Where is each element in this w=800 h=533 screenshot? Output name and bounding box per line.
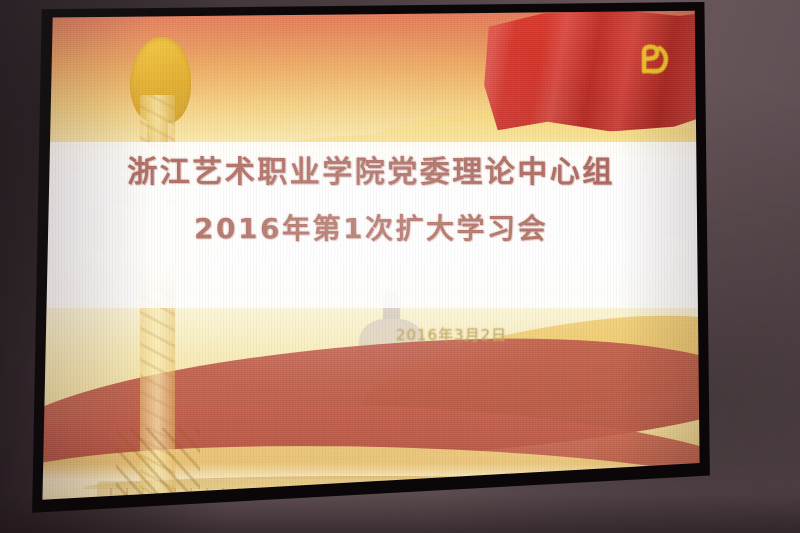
cpc-party-flag [484,10,710,132]
presentation-slide: 浙江艺术职业学院党委理论中心组 2016年第1次扩大学习会 2016年3月2日 [28,2,714,520]
slide-title-block: 浙江艺术职业学院党委理论中心组 2016年第1次扩大学习会 [28,147,714,247]
projector-screen-surface: 浙江艺术职业学院党委理论中心组 2016年第1次扩大学习会 2016年3月2日 [28,2,714,520]
slide-title-line-1: 浙江艺术职业学院党委理论中心组 [28,147,714,191]
room-scene: 浙江艺术职业学院党委理论中心组 2016年第1次扩大学习会 2016年3月2日 [0,0,800,533]
slide-date: 2016年3月2日 [396,324,507,345]
slide-title-line-2: 2016年第1次扩大学习会 [28,207,714,247]
slide-date-block: 2016年3月2日 [28,324,714,345]
hammer-and-sickle-emblem [625,39,684,80]
